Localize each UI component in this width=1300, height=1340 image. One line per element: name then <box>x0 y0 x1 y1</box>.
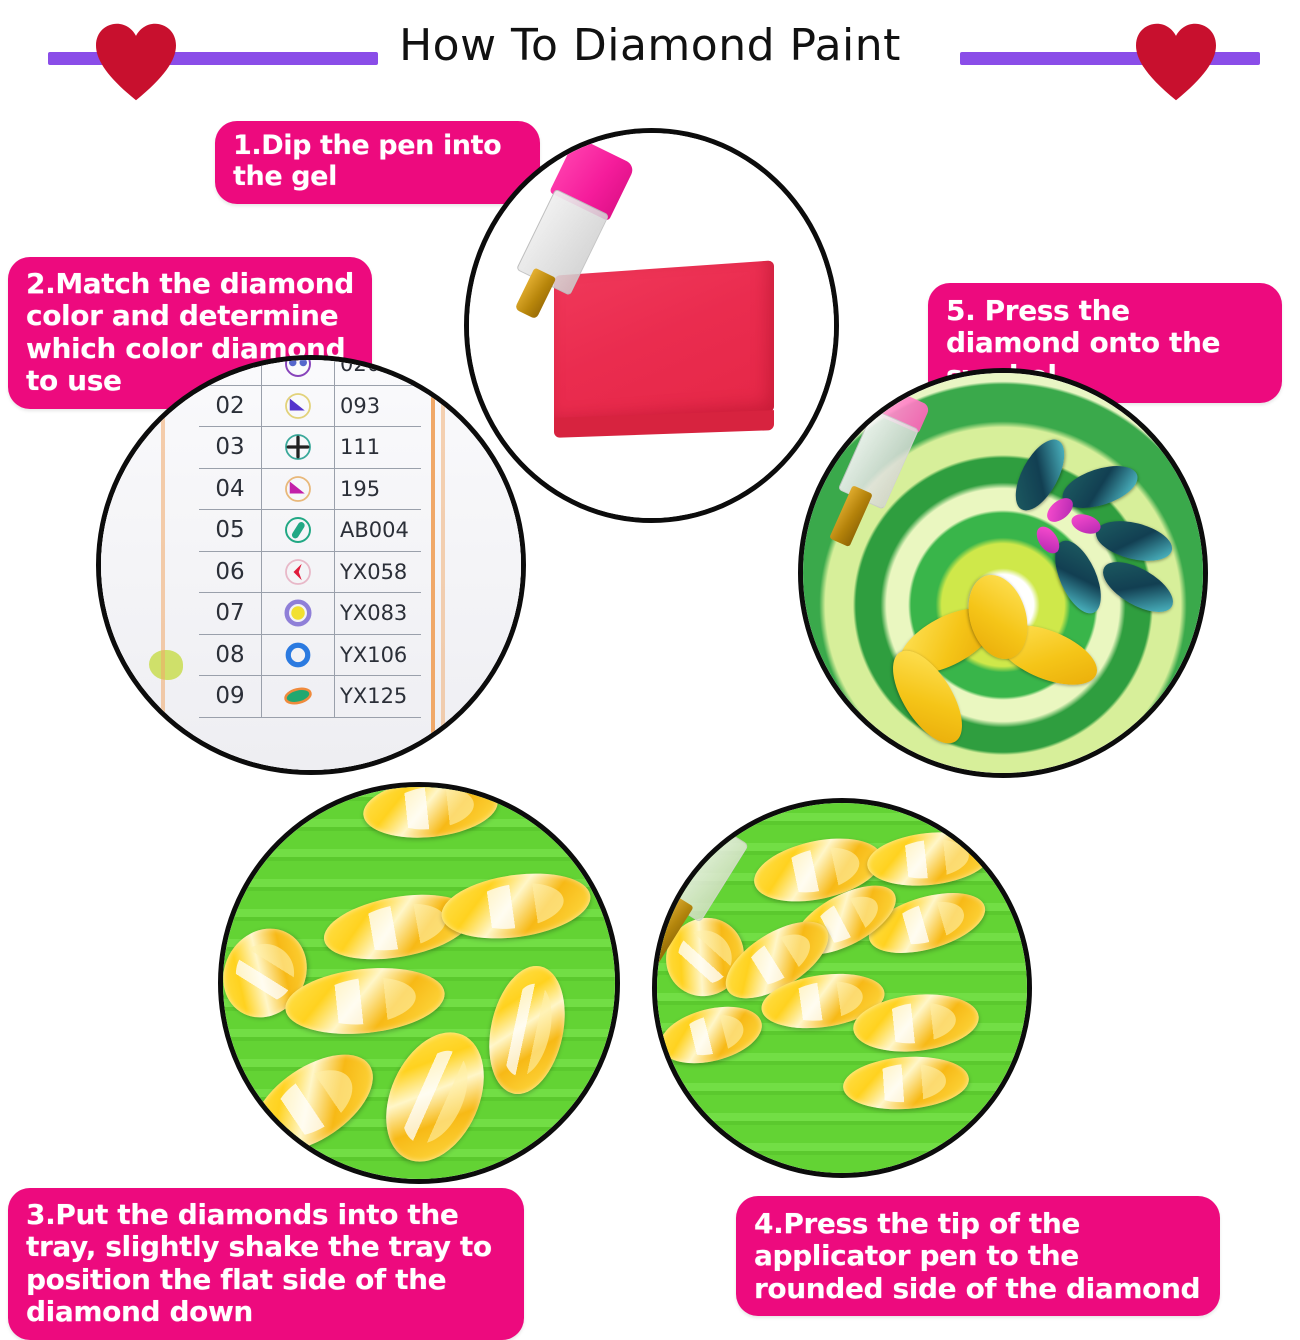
chart-row: 02 093 <box>199 386 421 428</box>
chart-cell-number: 09 <box>199 676 262 717</box>
chart-cell-symbol <box>262 635 335 676</box>
gel-scene <box>469 133 834 518</box>
mandala-canvas <box>803 373 1203 773</box>
diamond-gem <box>654 997 767 1073</box>
chart-row: 07 YX083 <box>199 593 421 635</box>
chart-cell-code: 111 <box>335 427 421 468</box>
infographic-page: How To Diamond Paint 1.Dip the pen into … <box>0 0 1300 1300</box>
dark-gem <box>1095 552 1181 622</box>
symbol-leaf-oval <box>283 681 313 711</box>
pen-tip-icon <box>829 485 873 547</box>
symbol-filled-dot-ring <box>283 598 313 628</box>
diamond-color-chart-table: 01 02602 09303 11104 19505 AB00406 YX058… <box>199 355 421 718</box>
green-tray <box>657 803 1027 1173</box>
step-3-photo-tray <box>218 782 620 1184</box>
chart-row: 04 195 <box>199 469 421 511</box>
chart-cell-code: YX058 <box>335 552 421 593</box>
chart-cell-number: 01 <box>199 355 262 385</box>
step-5-photo-mandala <box>798 368 1208 778</box>
step-4-callout: 4.Press the tip of the applicator pen to… <box>736 1196 1220 1316</box>
chart-cell-code: AB004 <box>335 510 421 551</box>
symbol-plus-cross <box>283 432 313 462</box>
chart-cell-number: 06 <box>199 552 262 593</box>
chart-cell-code: 026 <box>335 355 421 385</box>
chart-cell-code: YX083 <box>335 593 421 634</box>
chart-margin-line <box>441 360 445 770</box>
diamond-gem <box>367 1017 503 1177</box>
diamond-gem <box>841 1053 970 1114</box>
chart-row: 09YX125 <box>199 676 421 718</box>
step-3-callout: 3.Put the diamonds into the tray, slight… <box>8 1188 524 1340</box>
symbol-quarter-triangle <box>283 391 313 421</box>
chart-cell-code: 093 <box>335 386 421 427</box>
chart-row: 08YX106 <box>199 635 421 677</box>
green-swatch-blob <box>149 650 183 680</box>
chart-cell-code: YX106 <box>335 635 421 676</box>
chart-row: 05 AB004 <box>199 510 421 552</box>
chart-row: 03 111 <box>199 427 421 469</box>
applicator-pen <box>805 382 936 569</box>
chart-cell-number: 04 <box>199 469 262 510</box>
chart-margin-line <box>161 360 165 770</box>
chart-cell-number: 08 <box>199 635 262 676</box>
heart-icon <box>92 22 180 102</box>
chart-cell-symbol <box>262 469 335 510</box>
chart-cell-number: 03 <box>199 427 262 468</box>
diamond-gem <box>865 827 994 892</box>
chart-row: 06 YX058 <box>199 552 421 594</box>
symbol-open-ring <box>283 640 313 670</box>
symbol-diagonal-bar <box>283 515 313 545</box>
diamond-gem <box>478 959 575 1101</box>
chart-cell-number: 02 <box>199 386 262 427</box>
pink-gel-pad <box>554 260 774 427</box>
diamond-gem <box>360 782 500 844</box>
chart-margin-line <box>431 360 435 770</box>
chart-scene: 01 02602 09303 11104 19505 AB00406 YX058… <box>101 360 521 770</box>
diamond-gem <box>437 865 594 947</box>
page-header: How To Diamond Paint <box>0 0 1300 105</box>
diamond-gem <box>282 961 448 1041</box>
chart-cell-symbol <box>262 552 335 593</box>
symbol-left-chevron <box>283 557 313 587</box>
dark-gem <box>1092 514 1176 568</box>
chart-cell-symbol <box>262 510 335 551</box>
green-tray <box>223 787 615 1179</box>
heart-icon <box>1132 22 1220 102</box>
chart-cell-code: YX125 <box>335 676 421 717</box>
chart-cell-symbol <box>262 676 335 717</box>
chart-cell-symbol <box>262 593 335 634</box>
diamond-gem <box>236 1035 389 1171</box>
chart-cell-code: 195 <box>335 469 421 510</box>
symbol-quarter-triangle <box>283 474 313 504</box>
step-2-photo-color-chart: 01 02602 09303 11104 19505 AB00406 YX058… <box>96 355 526 775</box>
pen-tip-icon <box>515 268 557 320</box>
chart-cell-number: 07 <box>199 593 262 634</box>
symbol-two-dots-circle <box>283 355 313 379</box>
chart-cell-number: 05 <box>199 510 262 551</box>
chart-cell-symbol <box>262 386 335 427</box>
chart-cell-symbol <box>262 355 335 385</box>
step-4-photo-press-pen <box>652 798 1032 1178</box>
chart-row: 01 026 <box>199 355 421 386</box>
chart-cell-symbol <box>262 427 335 468</box>
page-title: How To Diamond Paint <box>350 20 950 71</box>
